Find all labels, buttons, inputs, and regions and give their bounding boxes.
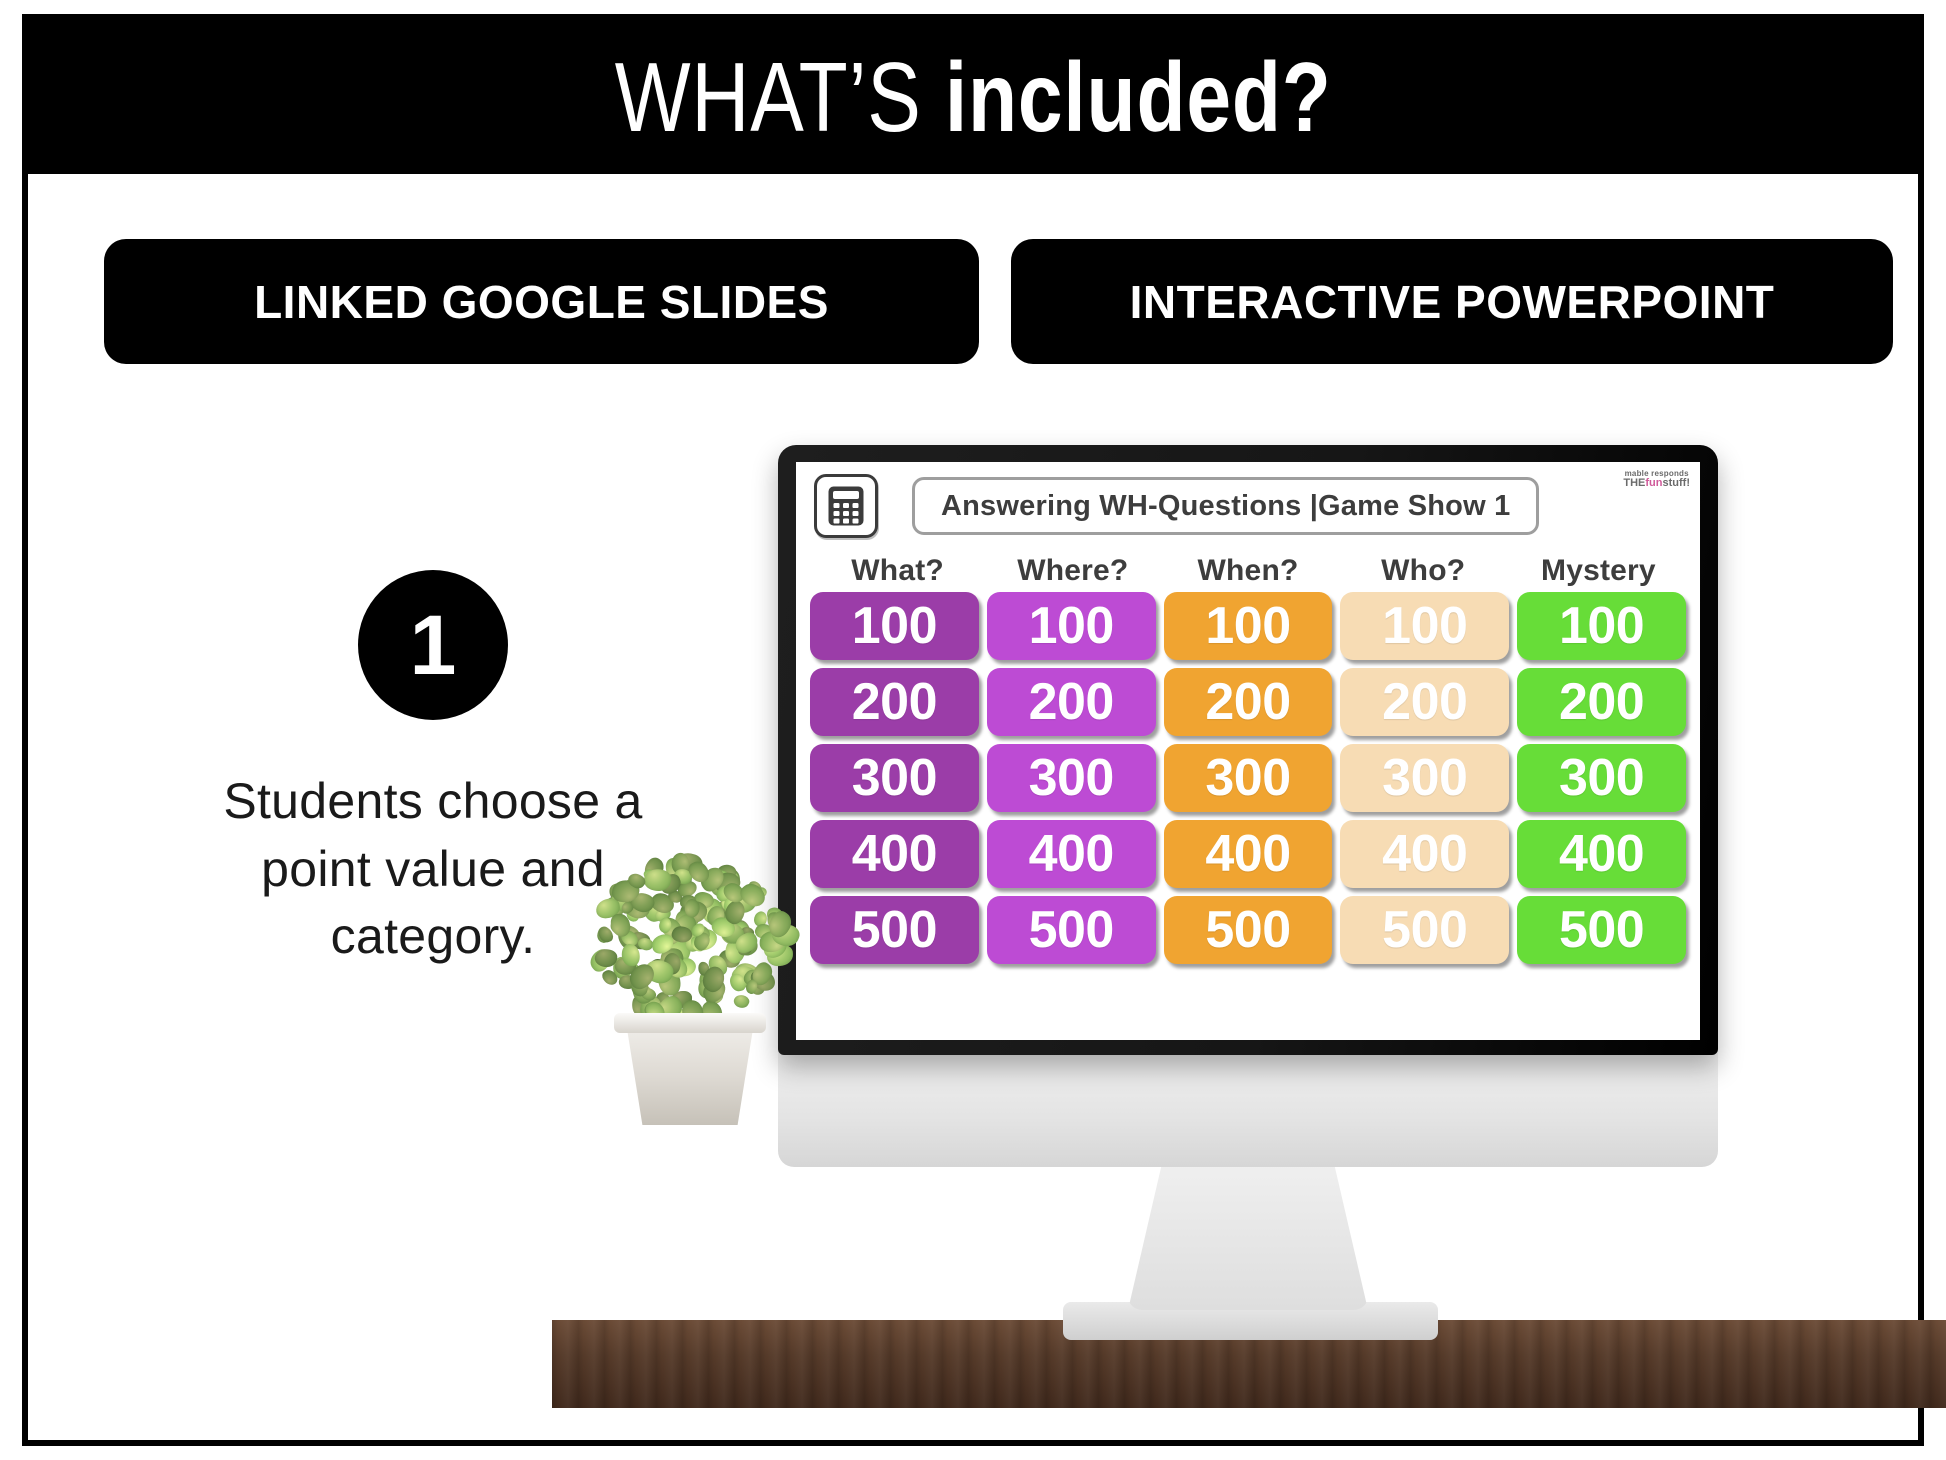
tile-where-400[interactable]: 400 — [987, 820, 1156, 888]
tile-mystery-100[interactable]: 100 — [1517, 592, 1686, 660]
monitor-neck — [1128, 1165, 1368, 1310]
calculator-icon[interactable] — [814, 474, 878, 538]
tile-column-what: 100200300400500 — [810, 592, 979, 964]
tile-where-100[interactable]: 100 — [987, 592, 1156, 660]
page-title-bold: included? — [945, 42, 1332, 152]
tile-where-500[interactable]: 500 — [987, 896, 1156, 964]
tile-who-300[interactable]: 300 — [1340, 744, 1509, 812]
page-title: WHAT’S included? — [615, 48, 1332, 146]
brand-logo-fun: fun — [1645, 477, 1662, 489]
monitor-mockup: Answering WH-Questions |Game Show 1 mabl… — [668, 430, 1738, 1330]
decorative-plant — [548, 850, 828, 1125]
point-tile-grid: 1002003004005001002003004005001002003004… — [810, 592, 1686, 964]
slide-title-box: Answering WH-Questions |Game Show 1 — [912, 477, 1539, 535]
brand-logo: mable responds THEfunstuff! — [1623, 470, 1690, 490]
tile-who-100[interactable]: 100 — [1340, 592, 1509, 660]
game-show-slide: Answering WH-Questions |Game Show 1 mabl… — [796, 462, 1700, 1040]
header-banner: WHAT’S included? — [28, 20, 1918, 174]
tile-where-200[interactable]: 200 — [987, 668, 1156, 736]
tile-where-300[interactable]: 300 — [987, 744, 1156, 812]
step-number: 1 — [410, 603, 457, 687]
slide-topbar: Answering WH-Questions |Game Show 1 — [796, 462, 1700, 550]
category-header-when: When? — [1160, 554, 1335, 588]
pill-interactive-powerpoint-label: INTERACTIVE POWERPOINT — [1130, 275, 1775, 329]
category-header-who: Who? — [1336, 554, 1511, 588]
page-title-light: WHAT’S — [615, 42, 945, 152]
pill-row: LINKED GOOGLE SLIDES INTERACTIVE POWERPO… — [104, 239, 1893, 364]
plant-pot — [620, 1020, 760, 1125]
tile-mystery-400[interactable]: 400 — [1517, 820, 1686, 888]
tile-mystery-200[interactable]: 200 — [1517, 668, 1686, 736]
tile-what-100[interactable]: 100 — [810, 592, 979, 660]
tile-what-500[interactable]: 500 — [810, 896, 979, 964]
pill-linked-google-slides[interactable]: LINKED GOOGLE SLIDES — [104, 239, 979, 364]
tile-who-500[interactable]: 500 — [1340, 896, 1509, 964]
category-header-mystery: Mystery — [1511, 554, 1686, 588]
tile-when-200[interactable]: 200 — [1164, 668, 1333, 736]
tile-column-where: 100200300400500 — [987, 592, 1156, 964]
page-frame: WHAT’S included? LINKED GOOGLE SLIDES IN… — [22, 14, 1924, 1446]
category-header-where: Where? — [985, 554, 1160, 588]
brand-logo-line2: THEfunstuff! — [1623, 478, 1690, 490]
plant-pot-rim — [614, 1013, 766, 1033]
brand-logo-the: THE — [1623, 477, 1645, 489]
category-header-what: What? — [810, 554, 985, 588]
tile-who-200[interactable]: 200 — [1340, 668, 1509, 736]
pill-linked-google-slides-label: LINKED GOOGLE SLIDES — [254, 275, 829, 329]
brand-logo-stuff: stuff! — [1663, 477, 1691, 489]
tile-when-400[interactable]: 400 — [1164, 820, 1333, 888]
tile-what-200[interactable]: 200 — [810, 668, 979, 736]
tile-when-500[interactable]: 500 — [1164, 896, 1333, 964]
tile-what-300[interactable]: 300 — [810, 744, 979, 812]
tile-column-who: 100200300400500 — [1340, 592, 1509, 964]
tile-what-400[interactable]: 400 — [810, 820, 979, 888]
tile-mystery-500[interactable]: 500 — [1517, 896, 1686, 964]
plant-leaf — [732, 992, 751, 1010]
tile-mystery-300[interactable]: 300 — [1517, 744, 1686, 812]
category-header-row: What? Where? When? Who? Mystery — [810, 554, 1686, 588]
tile-who-400[interactable]: 400 — [1340, 820, 1509, 888]
slide-title: Answering WH-Questions |Game Show 1 — [941, 490, 1510, 523]
tile-when-100[interactable]: 100 — [1164, 592, 1333, 660]
tile-column-mystery: 100200300400500 — [1517, 592, 1686, 964]
monitor-body — [778, 1042, 1718, 1167]
tile-column-when: 100200300400500 — [1164, 592, 1333, 964]
pill-interactive-powerpoint[interactable]: INTERACTIVE POWERPOINT — [1011, 239, 1893, 364]
step-number-badge: 1 — [358, 570, 508, 720]
tile-when-300[interactable]: 300 — [1164, 744, 1333, 812]
